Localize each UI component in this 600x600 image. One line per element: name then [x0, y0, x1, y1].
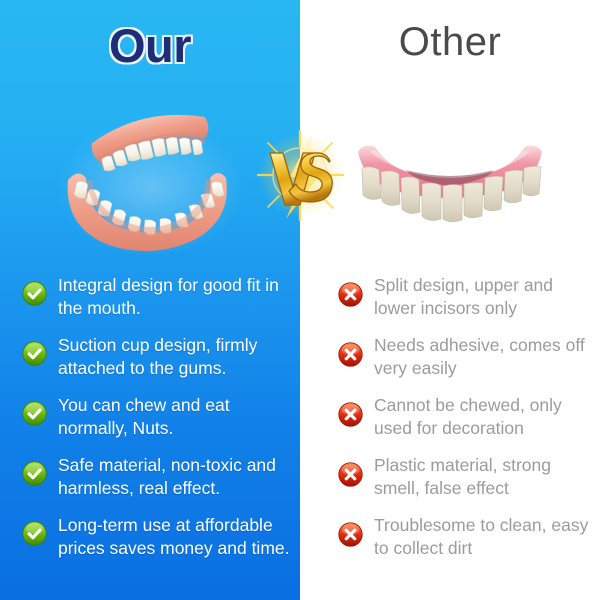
- list-item: Cannot be chewed, only used for decorati…: [338, 392, 594, 452]
- green-check-icon: [22, 281, 47, 306]
- green-check-icon: [22, 461, 47, 486]
- list-item-label: Safe material, non-toxic and harmless, r…: [58, 452, 290, 500]
- list-item-label: You can chew and eat normally, Nuts.: [58, 392, 290, 440]
- other-title: Other: [300, 22, 600, 62]
- list-item-label: Troublesome to clean, easy to collect di…: [374, 512, 594, 560]
- list-item-label: Integral design for good fit in the mout…: [58, 272, 290, 320]
- red-cross-icon: [338, 402, 363, 427]
- our-product-image: [46, 100, 256, 260]
- list-item: You can chew and eat normally, Nuts.: [22, 392, 290, 452]
- list-item-label: Suction cup design, firmly attached to t…: [58, 332, 290, 380]
- list-item-label: Long-term use at affordable prices saves…: [58, 512, 290, 560]
- list-item: Troublesome to clean, easy to collect di…: [338, 512, 594, 572]
- vs-badge: [250, 125, 350, 225]
- green-check-icon: [22, 401, 47, 426]
- red-cross-icon: [338, 522, 363, 547]
- list-item: Integral design for good fit in the mout…: [22, 272, 290, 332]
- list-item: Long-term use at affordable prices saves…: [22, 512, 290, 572]
- product-comparison-poster: Our Other: [0, 0, 600, 600]
- other-drawbacks-list: Split design, upper and lower incisors o…: [338, 272, 594, 572]
- other-product-image: [348, 122, 552, 238]
- list-item: Suction cup design, firmly attached to t…: [22, 332, 290, 392]
- red-cross-icon: [338, 282, 363, 307]
- list-item-label: Cannot be chewed, only used for decorati…: [374, 392, 594, 440]
- red-cross-icon: [338, 462, 363, 487]
- green-check-icon: [22, 521, 47, 546]
- list-item: Needs adhesive, comes off very easily: [338, 332, 594, 392]
- red-cross-icon: [338, 342, 363, 367]
- list-item-label: Split design, upper and lower incisors o…: [374, 272, 594, 320]
- our-benefits-list: Integral design for good fit in the mout…: [22, 272, 290, 572]
- list-item-label: Needs adhesive, comes off very easily: [374, 332, 594, 380]
- our-title: Our: [0, 22, 300, 69]
- list-item: Safe material, non-toxic and harmless, r…: [22, 452, 290, 512]
- green-check-icon: [22, 341, 47, 366]
- list-item-label: Plastic material, strong smell, false ef…: [374, 452, 594, 500]
- list-item: Split design, upper and lower incisors o…: [338, 272, 594, 332]
- list-item: Plastic material, strong smell, false ef…: [338, 452, 594, 512]
